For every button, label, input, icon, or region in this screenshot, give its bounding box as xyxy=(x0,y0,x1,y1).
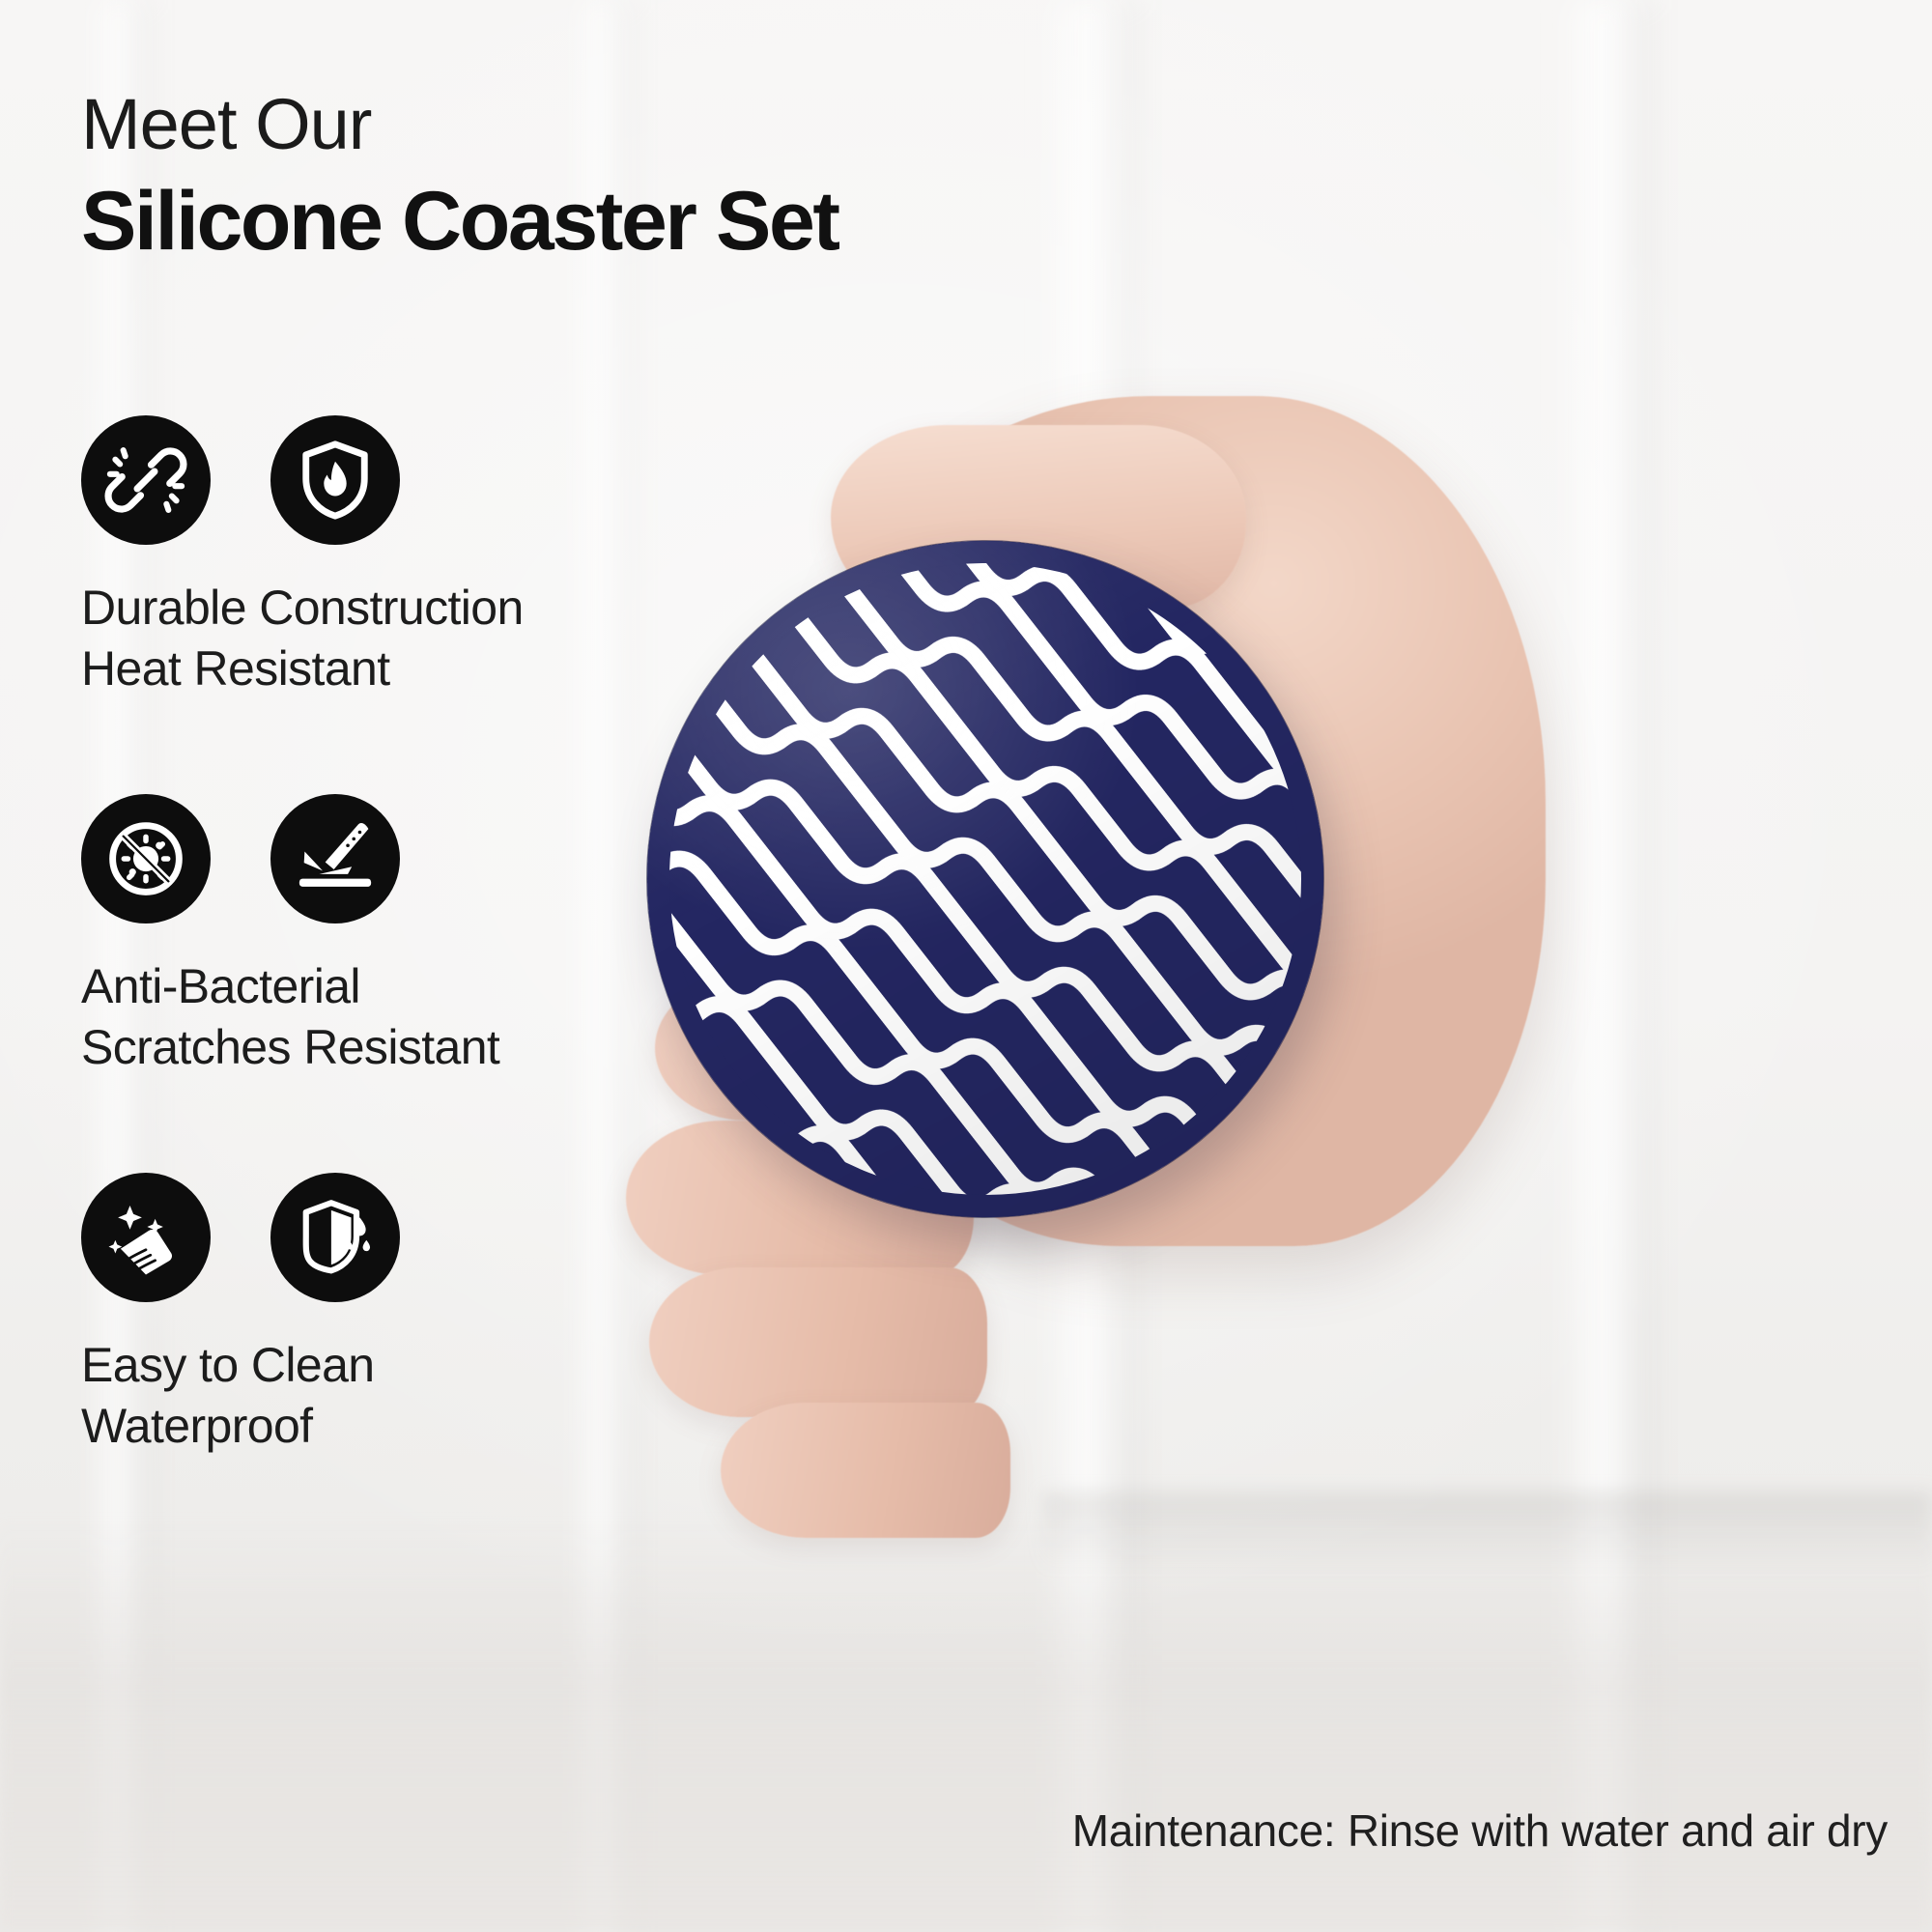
shield-flame-icon xyxy=(270,415,400,545)
silicone-coaster xyxy=(647,541,1323,1217)
headline-block: Meet Our Silicone Coaster Set xyxy=(81,89,815,263)
coaster-pattern xyxy=(647,541,1323,1217)
hand-finger xyxy=(649,1267,987,1417)
page-title: Silicone Coaster Set xyxy=(81,180,815,263)
headline-eyebrow: Meet Our xyxy=(81,89,815,160)
product-infographic: Meet Our Silicone Coaster Set xyxy=(0,0,1932,1932)
maintenance-note: Maintenance: Rinse with water and air dr… xyxy=(0,1804,1888,1857)
no-bacteria-icon xyxy=(81,794,211,923)
sparkle-wipe-hand-icon xyxy=(81,1173,211,1302)
knife-cutting-board-icon xyxy=(270,794,400,923)
shield-water-drop-icon xyxy=(270,1173,400,1302)
hand-finger xyxy=(721,1403,1010,1538)
chain-link-icon xyxy=(81,415,211,545)
product-photo xyxy=(541,386,1565,1507)
